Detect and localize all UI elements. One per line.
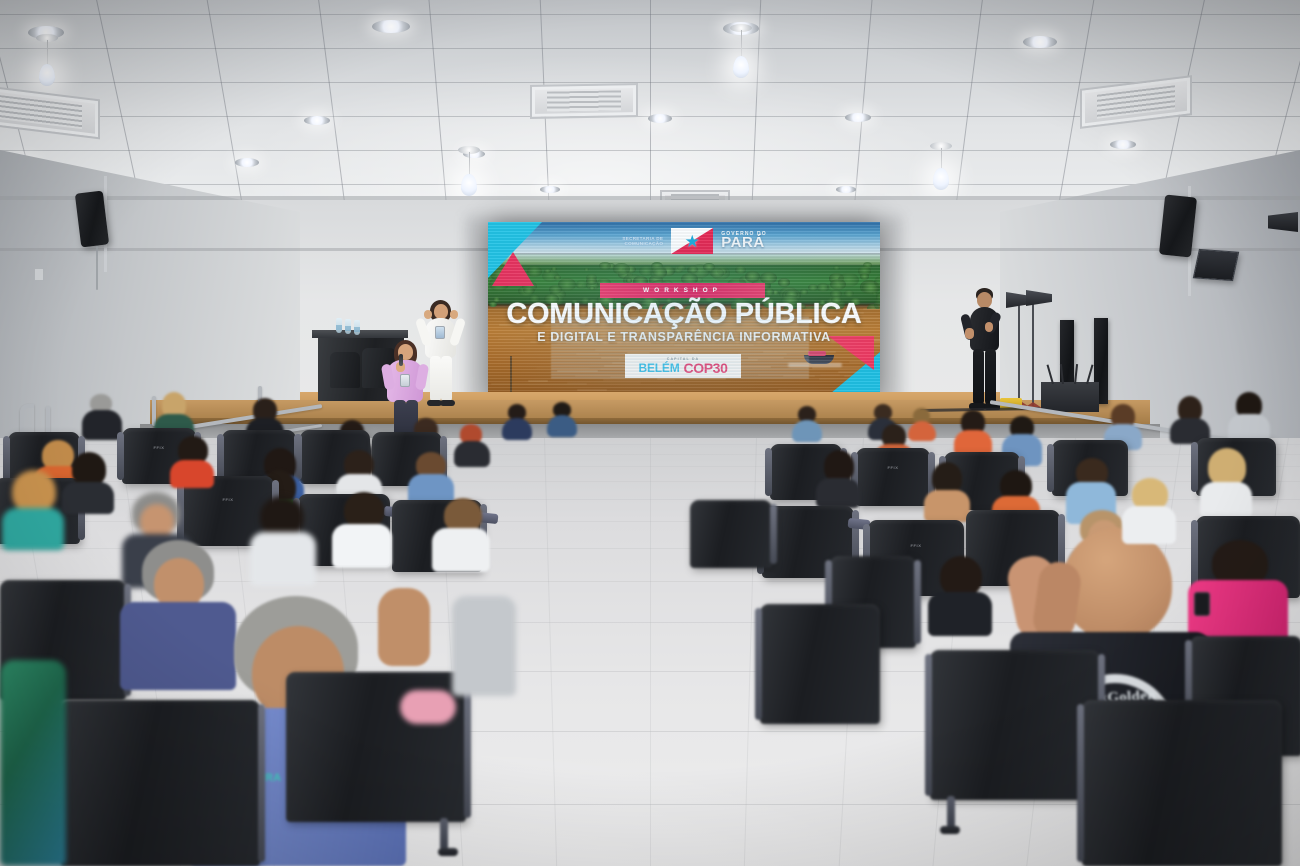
audience-member: [430, 498, 494, 572]
lanyard-badge: [435, 326, 445, 339]
audience-torso: [547, 415, 577, 437]
chair-brand-badge: FFIX: [153, 445, 164, 450]
interpreter-leg-right: [985, 349, 996, 405]
interpreter-head: [977, 292, 992, 308]
para-flag-icon: ★: [671, 228, 713, 254]
secom-logo-text: SECRETARIA DE COMUNICAÇÃO: [601, 236, 663, 247]
led-video-wall[interactable]: SECRETARIA DE COMUNICAÇÃO ★ GOVERNO DO P…: [488, 222, 880, 404]
handheld-microphone[interactable]: [399, 354, 403, 366]
water-bottle: [336, 318, 342, 333]
audience-member-hand: [378, 588, 434, 678]
water-bottle: [345, 319, 351, 334]
audience-member: [246, 496, 322, 586]
recessed-spotlight: [648, 114, 672, 123]
audience-chair[interactable]: [930, 650, 1100, 800]
para-label: PARÁ: [721, 236, 766, 250]
workshop-kicker-banner: WORKSHOP: [600, 283, 765, 298]
stage-chair: [330, 352, 360, 388]
audience-torso: [82, 410, 122, 440]
mixer-table: [1041, 382, 1099, 412]
screen-river-post: [510, 356, 512, 396]
audience-torso: [332, 524, 392, 568]
audience-hair: [344, 492, 384, 528]
audience-shoe: [400, 690, 456, 724]
audience-chair[interactable]: [1082, 700, 1282, 866]
chair-brand-badge: FFIX: [222, 497, 233, 502]
pendant-bulb: [39, 64, 55, 86]
light-stand-pole: [1032, 300, 1034, 406]
screen-logo-row: SECRETARIA DE COMUNICAÇÃO ★ GOVERNO DO P…: [488, 228, 880, 254]
interpreter-hand-left: [965, 328, 974, 339]
audience-member: [330, 492, 396, 568]
audience-member: [1120, 478, 1180, 544]
audience-hand: [378, 588, 430, 666]
pendant-wire: [741, 30, 742, 58]
recessed-spotlight: [1110, 140, 1136, 149]
audience-member: [452, 424, 492, 468]
audience-torso: [250, 532, 316, 586]
wall-plate: [34, 268, 44, 281]
audience-chair[interactable]: [690, 500, 772, 568]
podium-top: [312, 330, 408, 338]
speaker-leg-right: [441, 356, 452, 402]
pendant-bulb: [933, 168, 949, 190]
audience-torso: [792, 420, 822, 442]
audience-chair[interactable]: [60, 700, 260, 866]
chair-brand-badge: FFIX: [887, 465, 898, 470]
audience-member: [0, 660, 70, 866]
audience-torso: [2, 508, 64, 550]
pendant-bulb: [461, 174, 477, 196]
audience-chair[interactable]: FFIX: [856, 448, 930, 506]
audience-torso: [1122, 506, 1176, 544]
wall-trim-upper: [0, 196, 1300, 200]
recessed-spotlight: [836, 186, 856, 193]
screen-moire-band: [551, 317, 810, 379]
audience-chair[interactable]: [760, 604, 880, 724]
audience-hair: [444, 498, 482, 532]
audience-member: [452, 596, 522, 696]
pendant-wire: [941, 148, 942, 170]
ramp-handrail-curve: [20, 404, 34, 434]
pendant-wire: [47, 40, 48, 66]
audience-torso: [432, 528, 490, 572]
audience-member: [926, 556, 996, 636]
audience-head: [140, 504, 174, 538]
audience-member: [812, 450, 864, 508]
audience-hair: [940, 556, 982, 596]
audience-hair: [1208, 448, 1246, 486]
recessed-spotlight: [304, 116, 330, 125]
audience-torso: [0, 660, 66, 866]
audience-torso: [816, 478, 860, 508]
recessed-spotlight: [235, 158, 259, 167]
audience-member: [790, 406, 824, 440]
chair-brand-badge: FFIX: [910, 543, 921, 548]
audience-member: [500, 404, 534, 438]
audience-member: [1196, 448, 1256, 518]
audience-torso: [454, 441, 490, 467]
interpreter-leg-left: [973, 349, 984, 405]
audience-member: [1226, 392, 1272, 442]
audience-member: [1168, 396, 1212, 444]
recessed-spotlight: [540, 186, 560, 193]
audience-hair: [260, 496, 304, 536]
audience-torso: [924, 490, 970, 522]
recessed-spotlight: [372, 20, 410, 33]
recessed-spotlight: [845, 113, 871, 122]
lanyard-badge: [400, 374, 410, 387]
audience-torso: [502, 418, 532, 440]
recessed-spotlight: [1023, 36, 1057, 48]
audience-member: [168, 436, 218, 488]
speaker-leg-left: [430, 356, 441, 402]
speaker-shoe-right: [440, 400, 455, 406]
audience-member: [60, 452, 118, 514]
sign-language-interpreter: [962, 288, 1008, 416]
wall-speaker-right: [1159, 194, 1197, 257]
pendant-wire: [469, 152, 470, 176]
ac-cassette-vent: [530, 83, 638, 119]
speaker-cable: [96, 246, 98, 290]
audience-member: [952, 410, 994, 456]
water-bottle: [354, 320, 360, 335]
audience-torso: [1200, 482, 1252, 518]
star-icon: ★: [685, 233, 700, 250]
speaker-hand-left: [424, 310, 432, 319]
audience-member: [545, 402, 579, 436]
speaker-hand-right: [450, 310, 458, 319]
speaker-head: [434, 304, 448, 319]
pendant-bulb: [733, 56, 749, 78]
audience-torso: [928, 592, 992, 636]
tv-monitor: [1193, 249, 1240, 281]
governo-do-para-logo: GOVERNO DO PARÁ: [721, 232, 766, 250]
light-stand-pole: [1018, 302, 1020, 404]
audience-torso: [170, 460, 214, 488]
auditorium-scene: SECRETARIA DE COMUNICAÇÃO ★ GOVERNO DO P…: [0, 0, 1300, 866]
audience-torso: [452, 596, 516, 696]
workshop-kicker-label: WORKSHOP: [643, 287, 722, 294]
audience-member-pink: [400, 690, 460, 750]
audience-hair: [72, 452, 106, 486]
audience-torso: [62, 482, 114, 514]
audience-hair: [12, 470, 56, 512]
interpreter-hand-right: [985, 322, 993, 332]
